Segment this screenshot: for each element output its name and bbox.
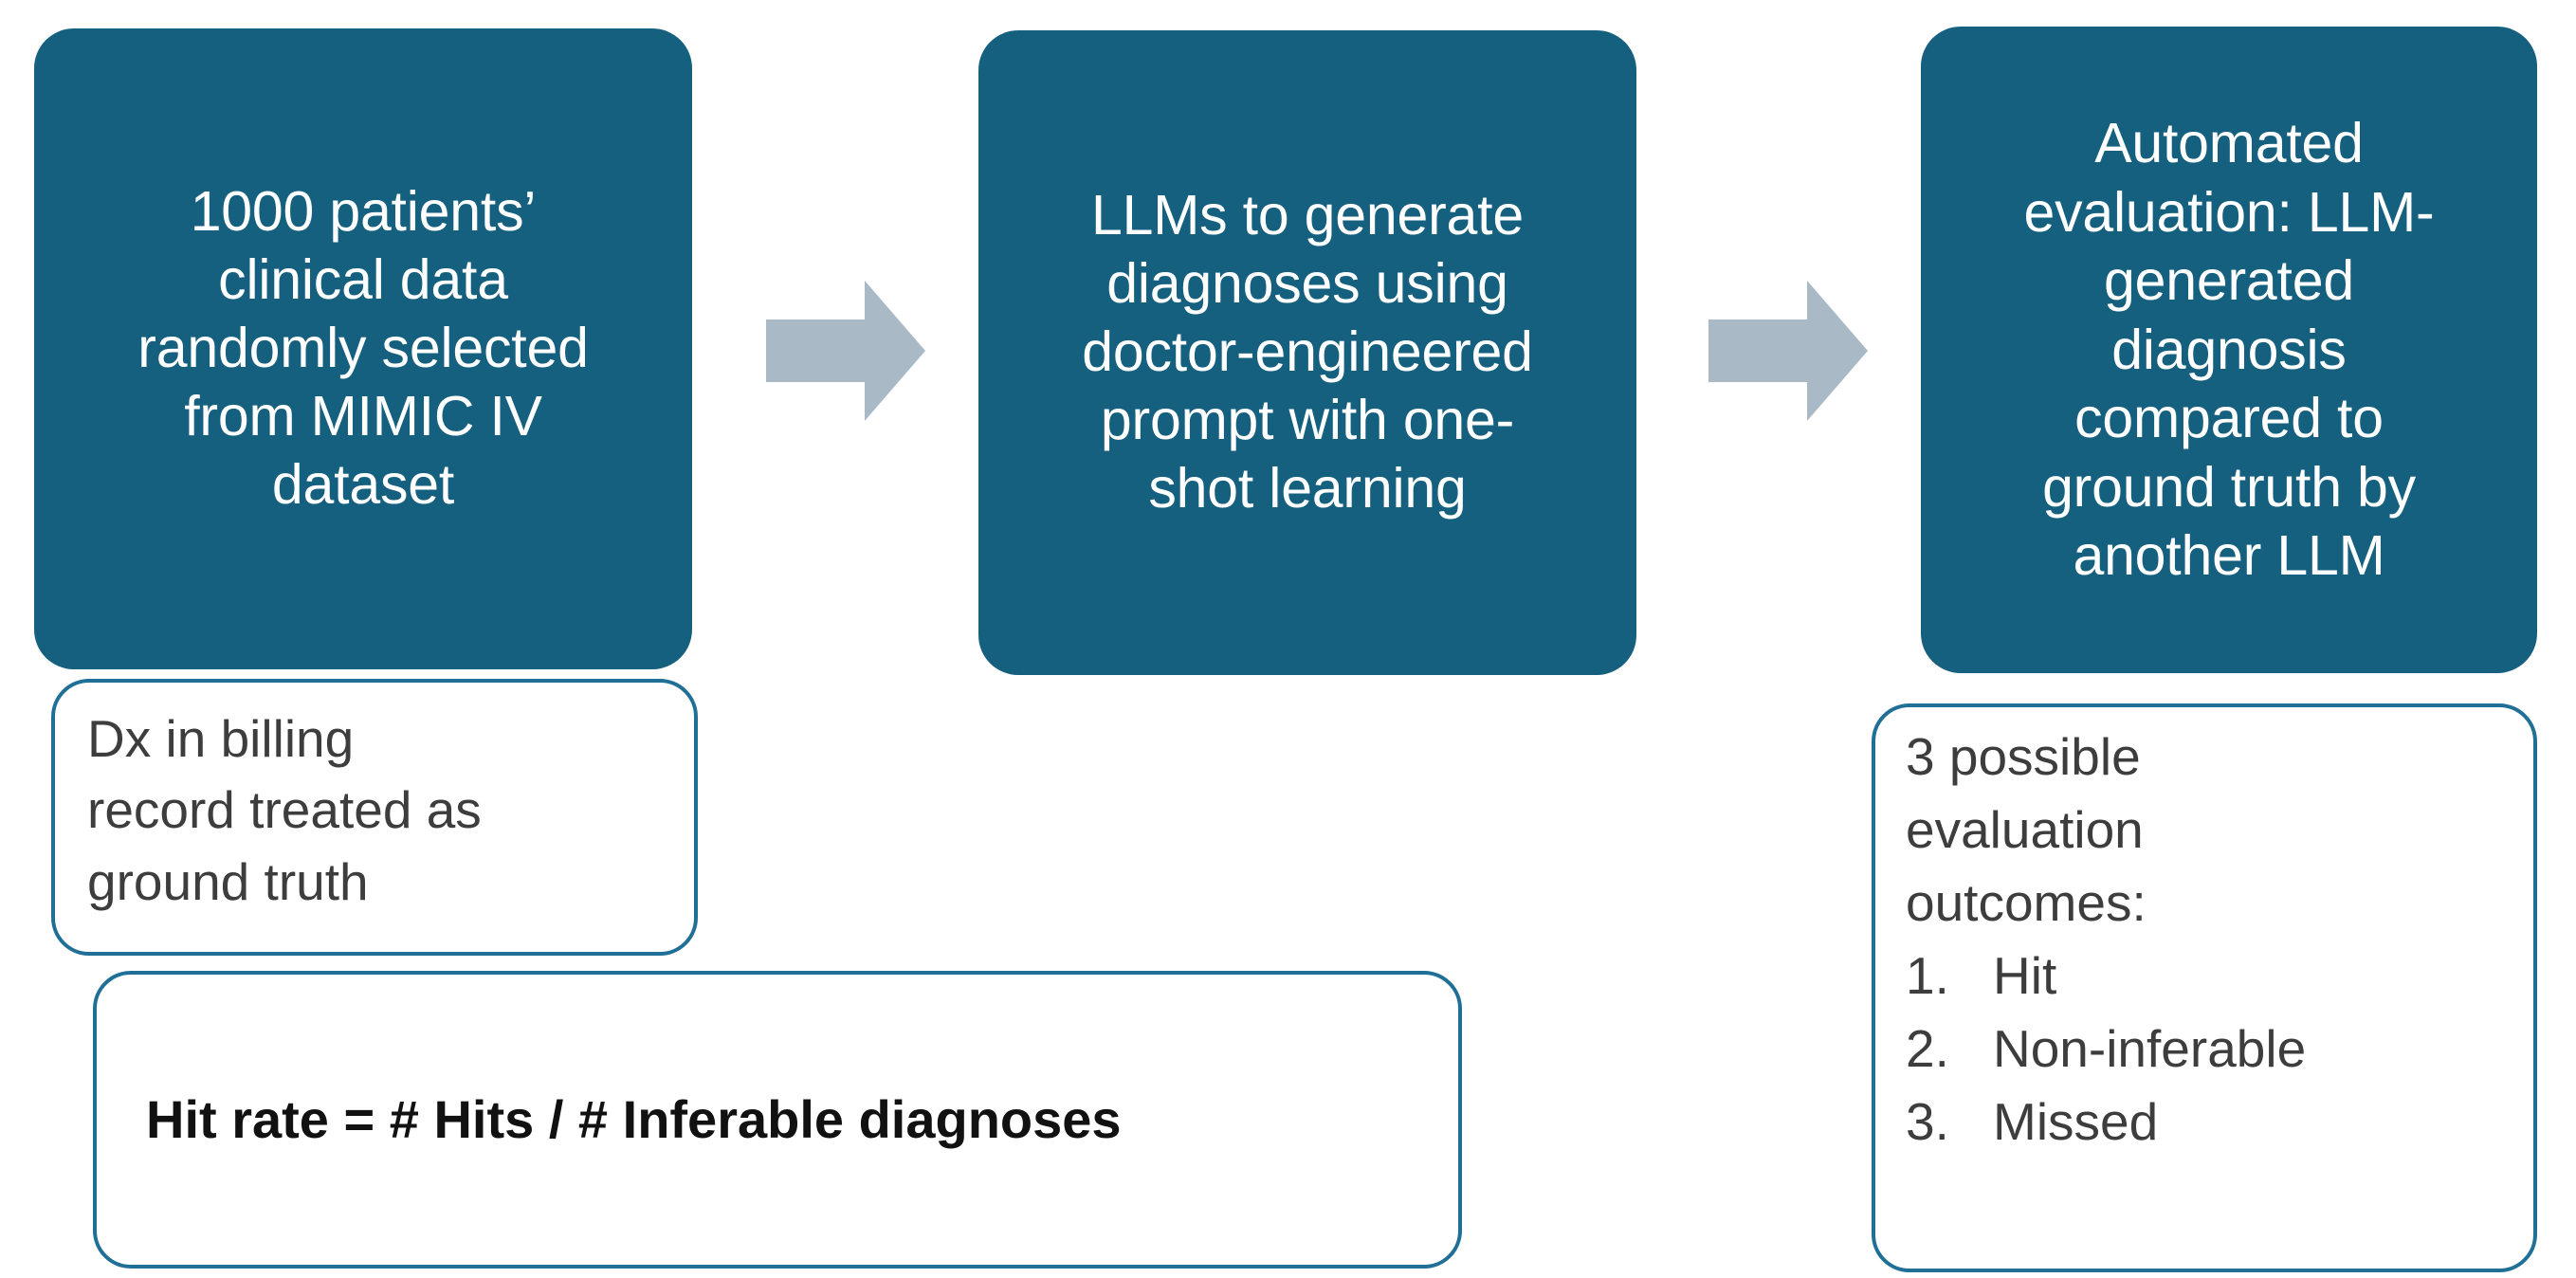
right-block-arrow-icon — [1708, 281, 1868, 421]
hit-rate-formula-label: Hit rate = # Hits / # Inferable diagnose… — [146, 1087, 1122, 1151]
process-box-step-2-label: LLMs to generate diagnoses using doctor-… — [1065, 182, 1550, 523]
process-box-step-3: Automated evaluation: LLM- generated dia… — [1921, 27, 2537, 673]
process-box-step-1-label: 1000 patients’ clinical data randomly se… — [120, 178, 605, 520]
callout-ground-truth: Dx in billing record treated as ground t… — [51, 679, 698, 956]
process-box-step-2: LLMs to generate diagnoses using doctor-… — [978, 30, 1636, 675]
callout-evaluation-outcomes: 3 possible evaluation outcomes: 1. Hit 2… — [1872, 703, 2537, 1272]
list-item-number: 2. — [1906, 1013, 1993, 1086]
list-item-number: 1. — [1906, 940, 1993, 1013]
list-item: 3. Missed — [1906, 1086, 2511, 1159]
process-box-step-3-label: Automated evaluation: LLM- generated dia… — [2007, 109, 2452, 591]
list-item-number: 3. — [1906, 1086, 1993, 1159]
process-box-step-1: 1000 patients’ clinical data randomly se… — [34, 28, 692, 669]
evaluation-outcomes-heading: 3 possible evaluation outcomes: — [1906, 721, 2511, 940]
list-item: 2. Non-inferable — [1906, 1013, 2511, 1086]
right-block-arrow-icon — [766, 281, 925, 421]
list-item-label: Missed — [1993, 1086, 2158, 1159]
evaluation-outcomes-list: 1. Hit 2. Non-inferable 3. Missed — [1906, 940, 2511, 1159]
callout-ground-truth-label: Dx in billing record treated as ground t… — [87, 703, 662, 918]
list-item-label: Hit — [1993, 940, 2056, 1013]
list-item-label: Non-inferable — [1993, 1013, 2306, 1086]
diagram-canvas: 1000 patients’ clinical data randomly se… — [0, 0, 2576, 1278]
list-item: 1. Hit — [1906, 940, 2511, 1013]
callout-hit-rate-formula: Hit rate = # Hits / # Inferable diagnose… — [93, 971, 1462, 1269]
